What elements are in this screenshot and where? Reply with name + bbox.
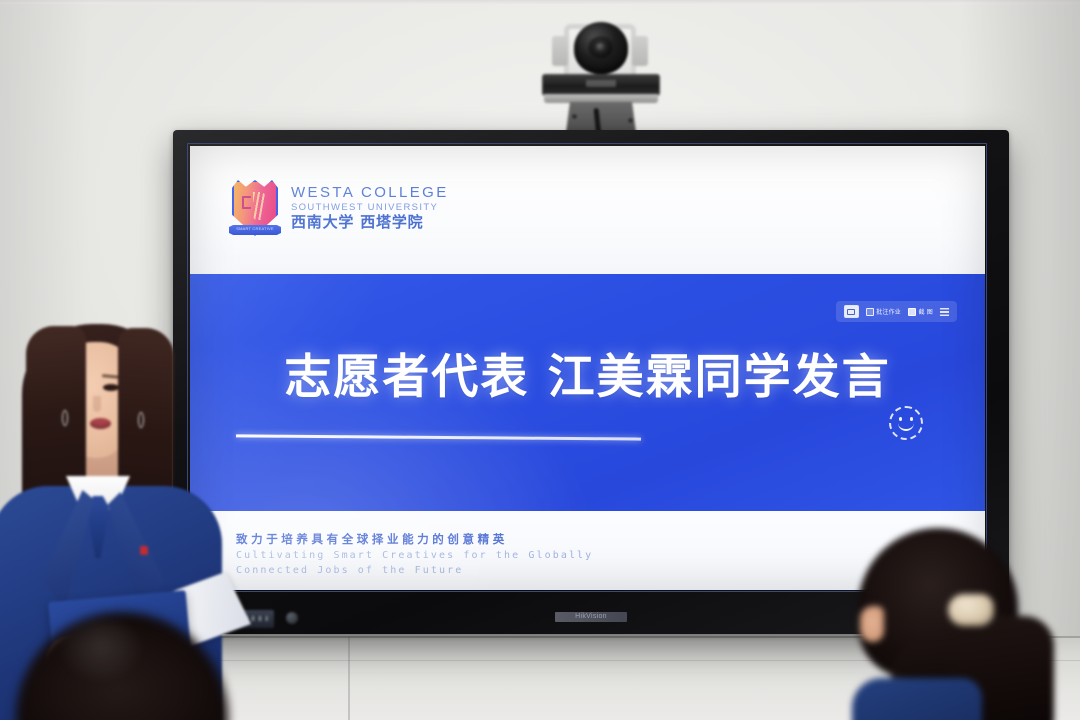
college-logo-lockup: SMART CREATIVE WESTA COLLEGE SOUTHWEST U…	[232, 180, 449, 236]
wall-mount-knob	[286, 612, 298, 624]
audience-right-ear	[860, 606, 884, 642]
presenter-lapel-pin	[140, 546, 148, 555]
panel-brand-label: HikVision	[555, 612, 627, 622]
camera-arm-right	[632, 36, 648, 66]
tagline-english-line1: Cultivating Smart Creatives for the Glob…	[236, 548, 593, 564]
wall-panel-edge	[348, 636, 350, 720]
toolbar-item-capture[interactable]: 截 图	[908, 307, 933, 316]
smiley-face-icon	[889, 406, 923, 440]
smiley-eye-right	[910, 417, 913, 421]
smiley-eye-left	[899, 417, 902, 421]
wall-ceiling-seam	[0, 0, 1080, 4]
audience-right-shoulder	[852, 678, 982, 720]
camera-brand-logo	[586, 80, 616, 87]
slide-title: 志愿者代表 江美霖同学发言	[190, 338, 985, 407]
mount-screw-left	[572, 114, 577, 119]
audience-right-scrunchie	[948, 594, 994, 626]
screenshot-scene: SMART CREATIVE WESTA COLLEGE SOUTHWEST U…	[0, 0, 1080, 720]
note-icon	[866, 308, 874, 316]
mount-screw-right	[628, 118, 633, 123]
camera-lens-icon	[588, 36, 614, 60]
window-icon[interactable]	[844, 305, 859, 318]
ceiling-ptz-camera	[540, 8, 660, 140]
presenter-earring-left	[62, 410, 68, 426]
logo-line-university: SOUTHWEST UNIVERSITY	[291, 202, 449, 213]
slide-tagline: 致力于培养具有全球择业能力的创意精英 Cultivating Smart Cre…	[236, 531, 593, 579]
logo-line-chinese: 西南大学 西塔学院	[291, 214, 449, 231]
panel-screen[interactable]: SMART CREATIVE WESTA COLLEGE SOUTHWEST U…	[190, 146, 985, 590]
capture-icon	[908, 308, 916, 316]
toolbar-label-capture: 截 图	[918, 307, 933, 316]
audience-member-right	[852, 528, 1078, 720]
shield-banner: SMART CREATIVE	[229, 225, 281, 235]
camera-bar-strip	[544, 94, 658, 103]
shield-crest-icon: SMART CREATIVE	[232, 180, 278, 236]
shield-letter-e	[242, 196, 251, 209]
tagline-chinese: 致力于培养具有全球择业能力的创意精英	[236, 531, 593, 548]
presenter-nose	[93, 396, 101, 412]
presentation-slide: SMART CREATIVE WESTA COLLEGE SOUTHWEST U…	[190, 146, 985, 590]
presenter-earring-right	[138, 412, 144, 428]
presenter-eye-right	[103, 384, 119, 391]
toolbar-label-annotate: 批注作业	[876, 307, 901, 316]
screen-annotation-toolbar[interactable]: 批注作业 截 图	[836, 301, 957, 322]
shield-banner-text: SMART CREATIVE	[229, 226, 281, 231]
presenter-mouth	[90, 418, 111, 429]
menu-icon[interactable]	[940, 308, 949, 316]
logo-line-college: WESTA COLLEGE	[291, 185, 449, 201]
toolbar-item-annotate[interactable]: 批注作业	[866, 307, 901, 316]
camera-arm-left	[552, 36, 568, 66]
audience-left-hair-sheen	[56, 620, 146, 684]
tagline-english-line2: Connected Jobs of the Future	[236, 563, 593, 579]
logo-text-block: WESTA COLLEGE SOUTHWEST UNIVERSITY 西南大学 …	[291, 185, 449, 231]
